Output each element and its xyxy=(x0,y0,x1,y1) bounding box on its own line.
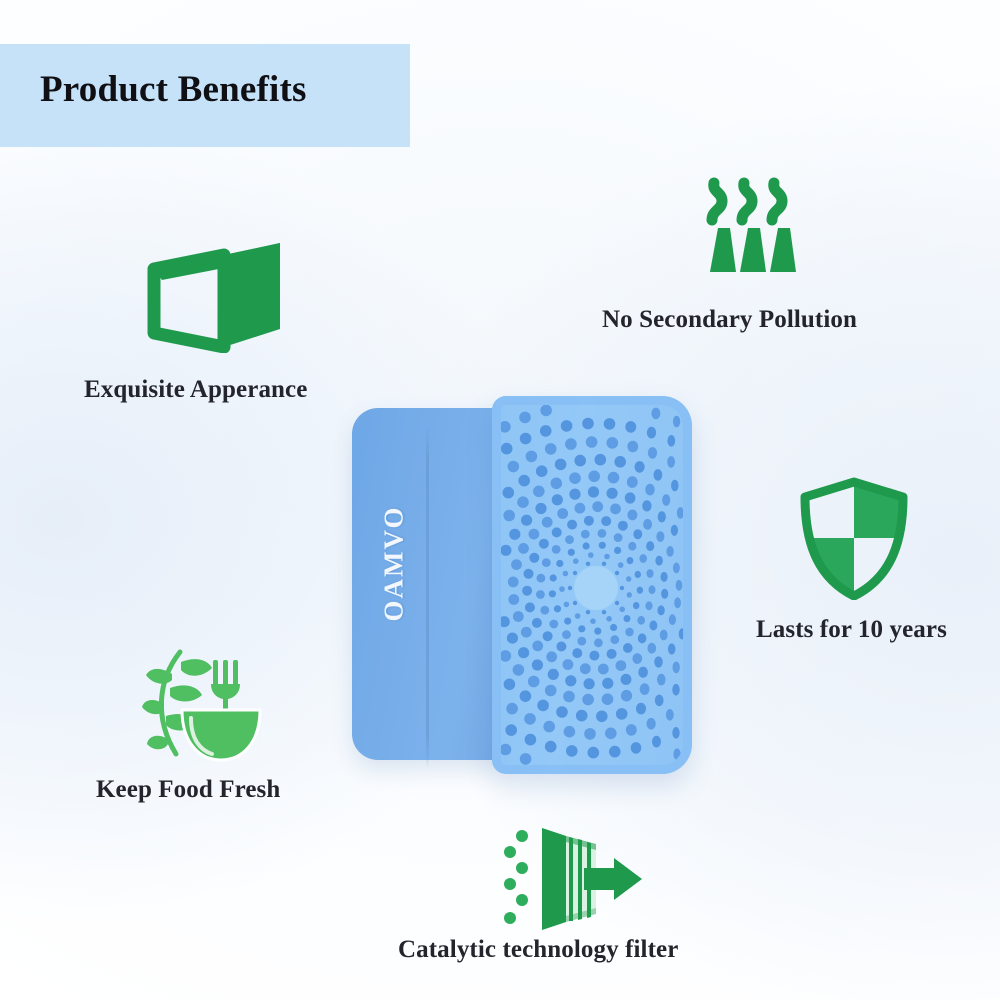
cube-icon xyxy=(146,243,294,353)
product-seam-line xyxy=(426,426,429,768)
benefit-label-keep-food-fresh: Keep Food Fresh xyxy=(96,776,280,804)
bowl-fork-leaf-icon xyxy=(142,646,264,764)
shield-icon xyxy=(795,476,913,600)
product-side-panel xyxy=(352,408,504,760)
infographic-canvas: Product Benefits Exquisite Apperance xyxy=(0,0,1000,1000)
product-honeycomb-face xyxy=(492,396,692,774)
factory-icon xyxy=(700,176,796,276)
benefit-label-exquisite-apperance: Exquisite Apperance xyxy=(84,376,307,404)
benefit-label-no-secondary-pollution: No Secondary Pollution xyxy=(602,306,857,334)
page-title: Product Benefits xyxy=(40,68,307,111)
benefit-label-catalytic-technology-filter: Catalytic technology filter xyxy=(398,936,678,964)
product-brand-label: OAMVO xyxy=(379,484,410,644)
product-image: OAMVO xyxy=(352,396,692,774)
benefit-label-lasts-for-10-years: Lasts for 10 years xyxy=(756,616,947,644)
filter-arrow-icon xyxy=(500,826,642,932)
